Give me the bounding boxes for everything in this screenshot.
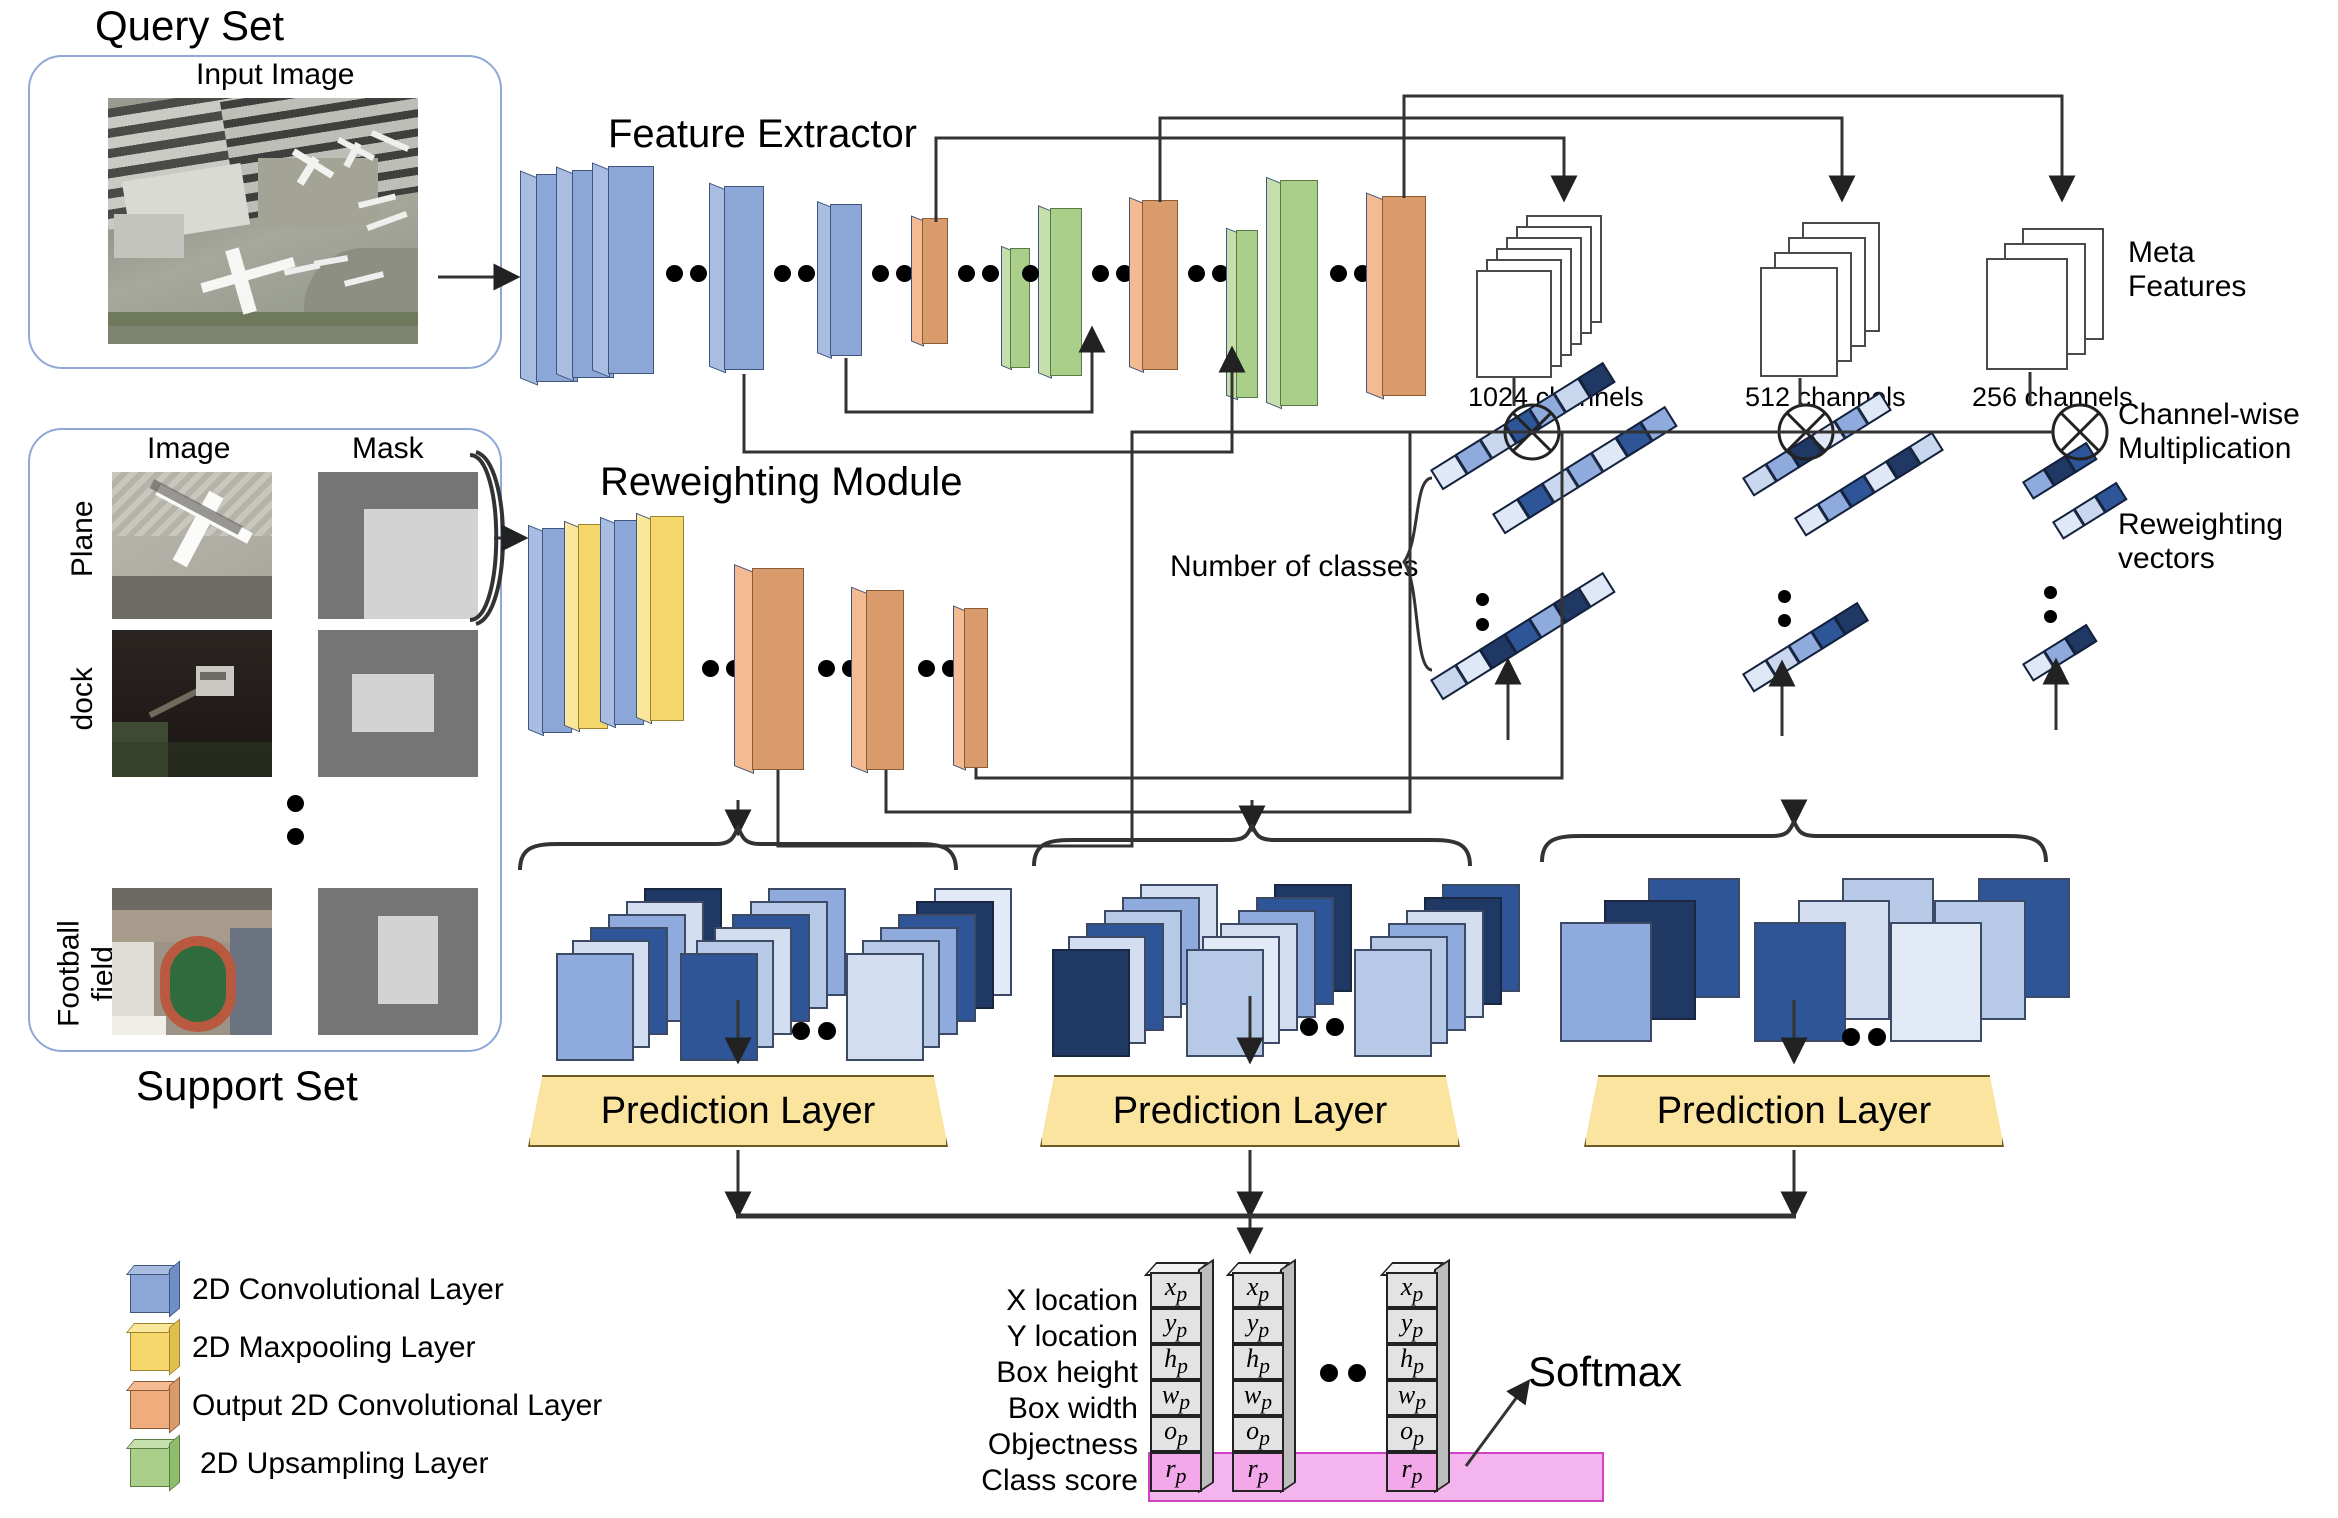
prediction-layer-label: Prediction Layer <box>1657 1090 1932 1133</box>
support-image-col-label: Image <box>147 432 230 466</box>
output-ellipsis-dot <box>1348 1364 1366 1382</box>
reweighting-vectors-label: Reweighting vectors <box>2118 508 2283 575</box>
fe-ellipsis-dot <box>1188 265 1205 282</box>
output-row-label-class-score: Class score <box>928 1464 1138 1498</box>
upsample-slab-2b <box>1280 180 1318 406</box>
prediction-layer-button-1[interactable]: Prediction Layer <box>528 1075 948 1147</box>
support-image-dock <box>112 630 272 777</box>
output-ellipsis-dot <box>1320 1364 1338 1382</box>
number-of-classes-label: Number of classes <box>1170 550 1418 584</box>
prediction-layer-label: Prediction Layer <box>1113 1090 1388 1133</box>
output-row-label-x-location: X location <box>968 1284 1138 1318</box>
channel-wise-multiplication-label: Channel-wise Multiplication <box>2118 398 2300 465</box>
rw-ellipsis-dot <box>818 660 835 677</box>
support-mask-football-field <box>318 888 478 1035</box>
support-set-title: Support Set <box>136 1062 358 1109</box>
fe-ellipsis-dot <box>666 265 683 282</box>
fe-ellipsis-dot <box>982 265 999 282</box>
output-row-label-box-height: Box height <box>938 1356 1138 1390</box>
fe-ellipsis-dot <box>1092 265 1109 282</box>
conv-slab-3 <box>608 166 654 374</box>
output-conv-slab-1 <box>922 218 948 344</box>
output-row-label-objectness: Objectness <box>928 1428 1138 1462</box>
prediction-layer-label: Prediction Layer <box>601 1090 876 1133</box>
support-image-plane <box>112 472 272 619</box>
support-ellipsis-dot-2 <box>287 828 304 845</box>
legend-label: 2D Maxpooling Layer <box>192 1331 476 1365</box>
reweighting-module-title: Reweighting Module <box>600 460 962 505</box>
output-row-label-y-location: Y location <box>968 1320 1138 1354</box>
upsample-slab-2a <box>1236 230 1258 398</box>
fe-ellipsis-dot <box>1022 265 1039 282</box>
conv-slab-5 <box>830 204 862 356</box>
rw-output-conv-slab-1 <box>752 568 804 770</box>
fe-ellipsis-dot <box>1330 265 1347 282</box>
upsample-slab-1b <box>1050 208 1082 376</box>
conv-slab-4 <box>724 186 764 370</box>
support-class-label-football-field: Football field <box>52 884 119 1064</box>
output-conv-slab-2 <box>1142 200 1178 370</box>
rw-output-conv-slab-2 <box>866 590 904 770</box>
query-set-title: Query Set <box>95 2 284 49</box>
support-mask-plane <box>318 472 478 619</box>
channel-count-label-256: 256 channels <box>1972 382 2133 412</box>
support-class-label-dock: dock <box>66 644 100 754</box>
fe-ellipsis-dot <box>872 265 889 282</box>
rw-maxpool-slab-2 <box>650 516 684 721</box>
output-conv-slab-final <box>1382 196 1426 396</box>
support-mask-dock <box>318 630 478 777</box>
query-input-image <box>108 98 418 344</box>
class-score-highlight-band <box>1148 1452 1604 1502</box>
legend-label: 2D Upsampling Layer <box>200 1447 488 1481</box>
support-class-label-plane: Plane <box>66 484 100 594</box>
fe-ellipsis-dot <box>798 265 815 282</box>
feature-extractor-title: Feature Extractor <box>608 112 917 157</box>
softmax-label: Softmax <box>1528 1348 1682 1395</box>
rw-output-conv-slab-3 <box>964 608 988 768</box>
legend-label: Output 2D Convolutional Layer <box>192 1389 602 1423</box>
fe-ellipsis-dot <box>774 265 791 282</box>
legend-label: 2D Convolutional Layer <box>192 1273 504 1307</box>
rw-ellipsis-dot <box>918 660 935 677</box>
fe-ellipsis-dot <box>690 265 707 282</box>
support-image-football-field <box>112 888 272 1035</box>
prediction-layer-button-2[interactable]: Prediction Layer <box>1040 1075 1460 1147</box>
fe-ellipsis-dot <box>958 265 975 282</box>
rw-ellipsis-dot <box>702 660 719 677</box>
support-mask-col-label: Mask <box>352 432 424 466</box>
output-row-label-box-width: Box width <box>938 1392 1138 1426</box>
prediction-layer-button-3[interactable]: Prediction Layer <box>1584 1075 2004 1147</box>
input-image-label: Input Image <box>196 58 354 92</box>
support-ellipsis-dot-1 <box>287 795 304 812</box>
meta-features-label: Meta Features <box>2128 236 2246 303</box>
